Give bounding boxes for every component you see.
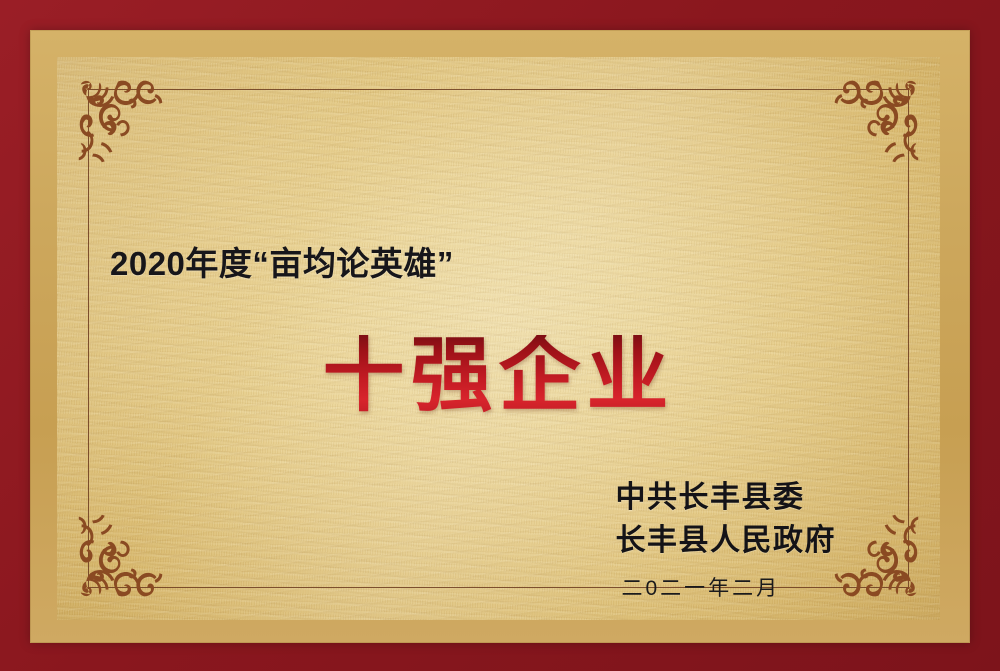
award-main-title: 十强企业 — [57, 335, 940, 417]
certificate-panel: 2020年度“亩均论英雄” 十强企业 中共长丰县委 长丰县人民政府 二0二一年二… — [57, 57, 940, 620]
award-subtitle: 2020年度“亩均论英雄” — [110, 237, 454, 285]
issuer-signature-block: 中共长丰县委 长丰县人民政府 二0二一年二月 — [616, 477, 837, 602]
certificate-content: 2020年度“亩均论英雄” 十强企业 中共长丰县委 长丰县人民政府 二0二一年二… — [57, 57, 940, 620]
issuer-line-2: 长丰县人民政府 — [616, 520, 837, 563]
issue-date: 二0二一年二月 — [622, 572, 837, 602]
issuer-line-1: 中共长丰县委 — [616, 477, 837, 520]
award-plaque: 2020年度“亩均论英雄” 十强企业 中共长丰县委 长丰县人民政府 二0二一年二… — [0, 0, 1000, 671]
